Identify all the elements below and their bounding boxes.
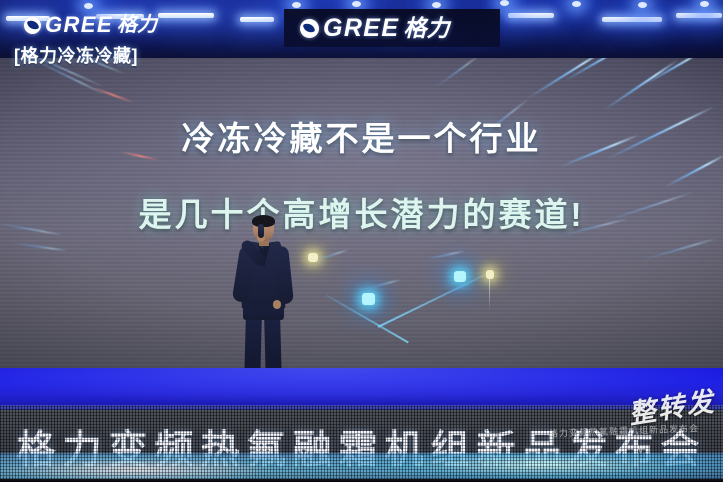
led-pixel-grid	[0, 405, 723, 482]
led-banner: 格力变频热氟融霜机组新品发布会	[0, 405, 723, 482]
stage-lamp	[352, 1, 361, 7]
brand-name-latin: GREE	[45, 14, 113, 36]
brand-name-cn: 格力	[403, 17, 449, 40]
brand-name-latin: GREE	[323, 16, 399, 41]
brand-logo-center: GREE 格力	[300, 16, 449, 41]
stage-lamp	[84, 3, 93, 9]
speaker-hand-lower	[273, 300, 281, 309]
microphone-icon	[258, 224, 264, 238]
stage-lamp	[432, 2, 441, 8]
gree-circle-logo-icon	[300, 19, 319, 38]
stage-lamp	[292, 2, 301, 8]
stage-light-bar	[602, 17, 662, 22]
stage-light-bar	[240, 17, 274, 22]
brand-sub-label: [格力冷冻冷藏]	[14, 42, 138, 68]
stage-floor-sheen	[0, 368, 723, 405]
stage-lamp	[572, 1, 581, 7]
brand-logo-left: GREE 格力	[24, 14, 157, 36]
stage-light-bar	[508, 13, 554, 18]
stage-light-bar	[676, 13, 722, 18]
slide-headline-line-2: 是几十个高增长潜力的赛道!	[0, 188, 723, 236]
stage-light-bar	[158, 13, 214, 18]
stage-lamp	[700, 1, 709, 7]
event-stage-photo: 冷冻冷藏不是一个行业 是几十个高增长潜力的赛道! 格力变频热氟融霜机组新品发布会…	[0, 0, 723, 482]
stage-lamp	[500, 0, 509, 6]
brand-name-cn: 格力	[117, 15, 157, 35]
stage-lamp	[638, 2, 647, 8]
slide-headline-line-1: 冷冻冷藏不是一个行业	[0, 112, 723, 160]
gree-circle-logo-icon	[24, 17, 41, 34]
